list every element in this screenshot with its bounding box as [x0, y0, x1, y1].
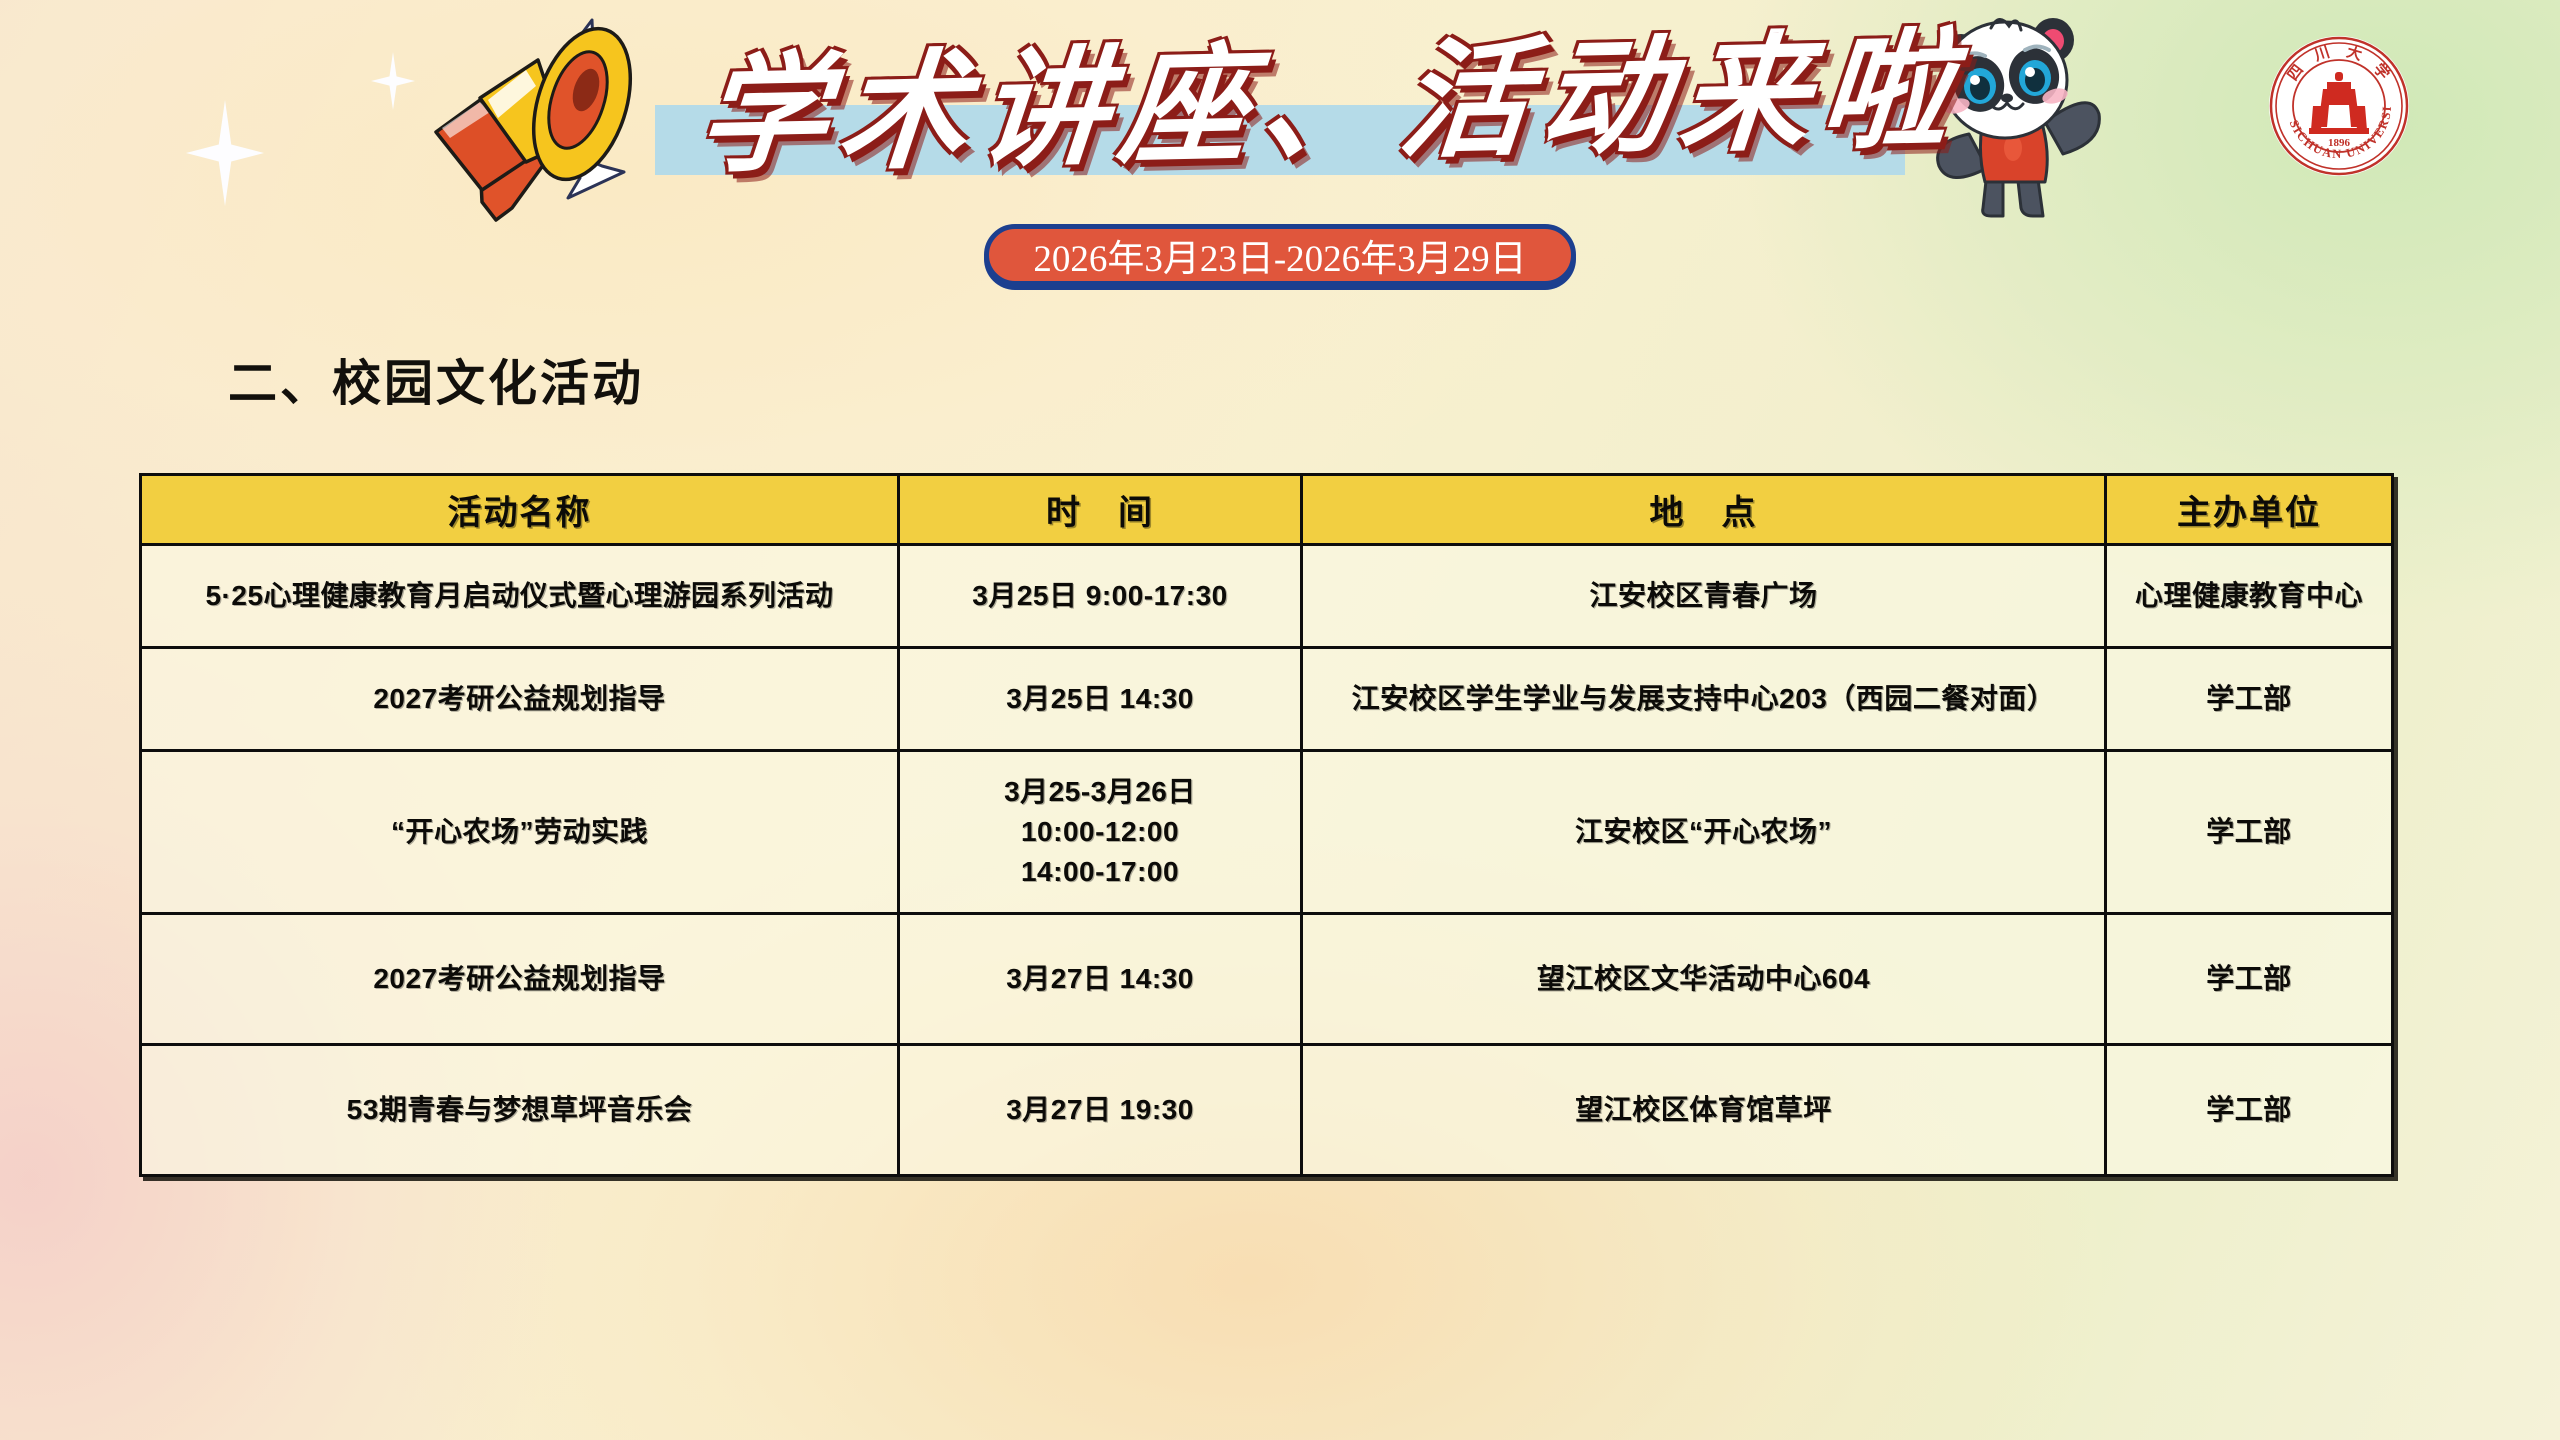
- table-row: 2027考研公益规划指导 3月27日 14:30 望江校区文华活动中心604 学…: [141, 914, 2393, 1045]
- table-row: 53期青春与梦想草坪音乐会 3月27日 19:30 望江校区体育馆草坪 学工部: [141, 1045, 2393, 1176]
- column-header-activity-name: 活动名称: [141, 475, 899, 545]
- date-range-label: 2026年3月23日-2026年3月29日: [1033, 228, 1526, 282]
- sichuan-university-logo: 四 川 大 学 SICHUAN UNIVERSITY 1896: [2265, 32, 2413, 180]
- cell-time: 3月27日 14:30: [899, 914, 1302, 1045]
- cell-time: 3月25-3月26日 10:00-12:00 14:00-17:00: [899, 751, 1302, 914]
- cell-time: 3月27日 19:30: [899, 1045, 1302, 1176]
- page-title: 学术讲座、活动来啦: [693, 18, 1888, 193]
- poster-header: 四 川 大 学 SICHUAN UNIVERSITY 1896 学术讲座、活动来: [0, 0, 2560, 330]
- poster-background: 四 川 大 学 SICHUAN UNIVERSITY 1896 学术讲座、活动来: [0, 0, 2560, 1440]
- cell-organizer: 学工部: [2106, 751, 2393, 914]
- cell-time-text: 3月25日 9:00-17:30: [972, 580, 1227, 611]
- column-header-location: 地 点: [1302, 475, 2106, 545]
- cell-activity-name: “开心农场”劳动实践: [141, 751, 899, 914]
- activities-table: 活动名称 时 间 地 点 主办单位 5·25心理健康教育月启动仪式暨心理游园系列…: [139, 473, 2394, 1177]
- table-header-row: 活动名称 时 间 地 点 主办单位: [141, 475, 2393, 545]
- cell-time-text: 3月25-3月26日 10:00-12:00 14:00-17:00: [1004, 776, 1196, 887]
- cell-organizer: 学工部: [2106, 648, 2393, 751]
- cell-location: 江安校区青春广场: [1302, 545, 2106, 648]
- cell-activity-name: 2027考研公益规划指导: [141, 648, 899, 751]
- cell-location: 江安校区“开心农场”: [1302, 751, 2106, 914]
- column-header-organizer: 主办单位: [2106, 475, 2393, 545]
- sparkle-icon: [186, 100, 264, 206]
- cell-location: 江安校区学生学业与发展支持中心203（西园二餐对面）: [1302, 648, 2106, 751]
- cell-activity-name: 5·25心理健康教育月启动仪式暨心理游园系列活动: [141, 545, 899, 648]
- cell-time: 3月25日 9:00-17:30: [899, 545, 1302, 648]
- date-range-badge: 2026年3月23日-2026年3月29日: [984, 224, 1576, 286]
- cell-time: 3月25日 14:30: [899, 648, 1302, 751]
- svg-text:1896: 1896: [2328, 137, 2351, 149]
- cell-location: 望江校区体育馆草坪: [1302, 1045, 2106, 1176]
- cell-organizer: 学工部: [2106, 914, 2393, 1045]
- megaphone-icon: [330, 12, 660, 227]
- cell-location: 望江校区文华活动中心604: [1302, 914, 2106, 1045]
- section-heading: 二、校园文化活动: [228, 344, 644, 415]
- cell-organizer: 学工部: [2106, 1045, 2393, 1176]
- cell-activity-name: 53期青春与梦想草坪音乐会: [141, 1045, 899, 1176]
- table-row: 2027考研公益规划指导 3月25日 14:30 江安校区学生学业与发展支持中心…: [141, 648, 2393, 751]
- cell-time-text: 3月27日 19:30: [1006, 1094, 1194, 1125]
- cell-activity-name: 2027考研公益规划指导: [141, 914, 899, 1045]
- column-header-time: 时 间: [899, 475, 1302, 545]
- cell-organizer: 心理健康教育中心: [2106, 545, 2393, 648]
- cell-time-text: 3月25日 14:30: [1006, 683, 1194, 714]
- table-row: 5·25心理健康教育月启动仪式暨心理游园系列活动 3月25日 9:00-17:3…: [141, 545, 2393, 648]
- table-row: “开心农场”劳动实践 3月25-3月26日 10:00-12:00 14:00-…: [141, 751, 2393, 914]
- cell-time-text: 3月27日 14:30: [1006, 963, 1194, 994]
- activities-table-wrapper: 活动名称 时 间 地 点 主办单位 5·25心理健康教育月启动仪式暨心理游园系列…: [139, 473, 2391, 1177]
